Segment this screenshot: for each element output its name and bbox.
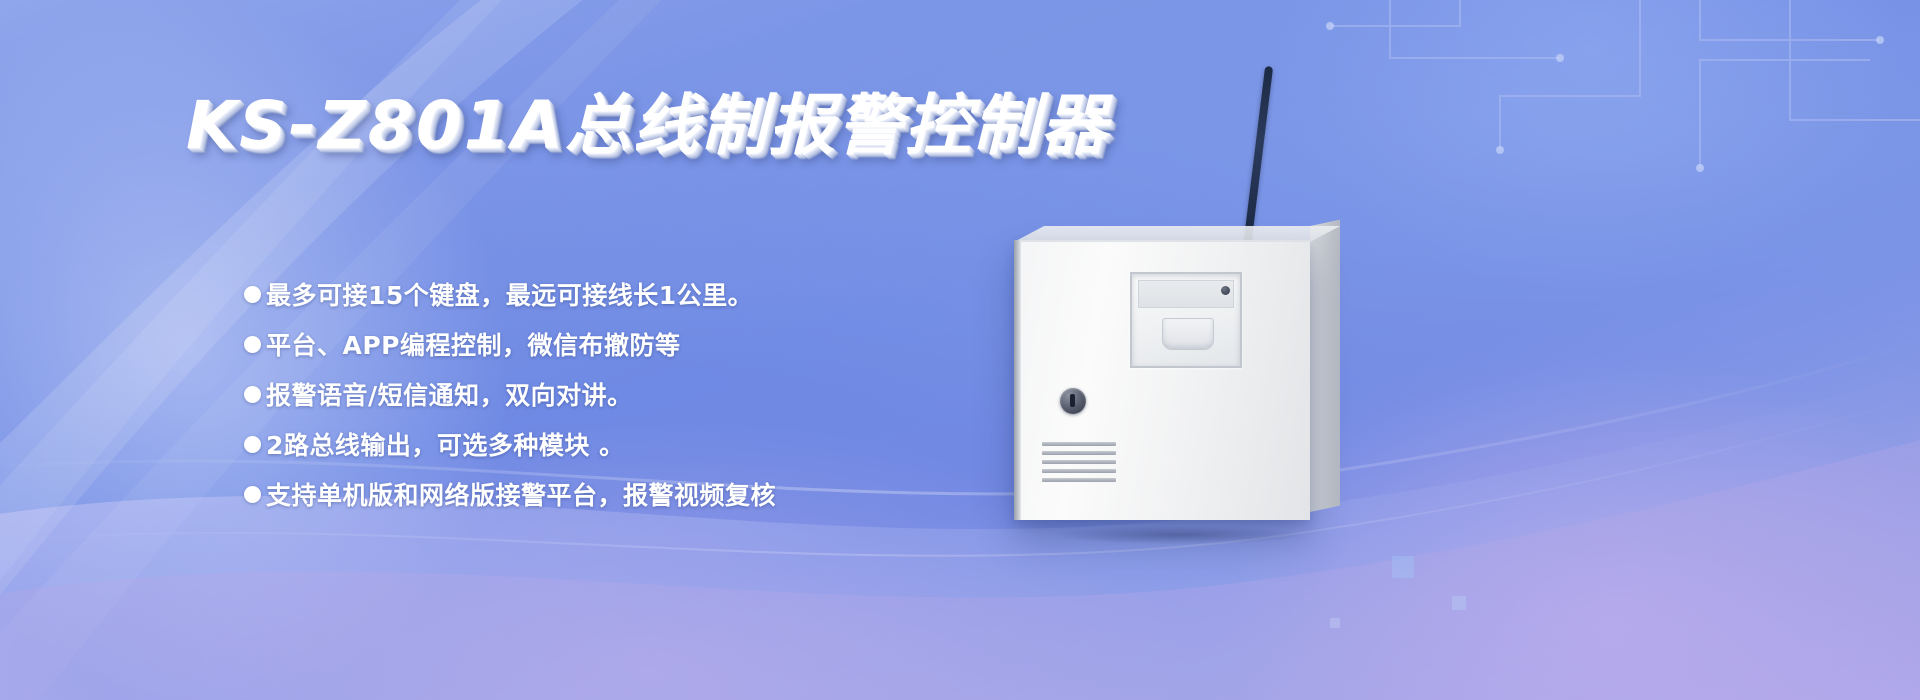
feature-text: 平台、APP编程控制，微信布撤防等	[266, 326, 681, 362]
list-item: 最多可接15个键盘，最远可接线长1公里。	[244, 276, 776, 312]
bullet-dot-icon	[244, 486, 261, 503]
keypad-window	[1130, 272, 1242, 368]
list-item: 支持单机版和网络版接警平台，报警视频复核	[244, 476, 776, 512]
vent-line	[1042, 478, 1116, 482]
panel-handle	[1162, 318, 1214, 350]
vent-line	[1042, 460, 1116, 464]
cabinet-top-edge	[1014, 226, 1340, 242]
product-promo-banner: KS-Z801A总线制报警控制器 最多可接15个键盘，最远可接线长1公里。 平台…	[0, 0, 1920, 700]
bullet-dot-icon	[244, 386, 261, 403]
feature-text: 2路总线输出，可选多种模块 。	[266, 426, 625, 462]
display-slot	[1138, 280, 1234, 308]
bullet-dot-icon	[244, 336, 261, 353]
ventilation-louvers	[1042, 442, 1116, 482]
vent-line	[1042, 451, 1116, 455]
list-item: 平台、APP编程控制，微信布撤防等	[244, 326, 776, 362]
list-item: 2路总线输出，可选多种模块 。	[244, 426, 776, 462]
product-shadow	[1004, 522, 1354, 548]
list-item: 报警语音/短信通知，双向对讲。	[244, 376, 776, 412]
cabinet-front	[1014, 240, 1310, 520]
title-block: KS-Z801A总线制报警控制器	[186, 72, 1109, 168]
page-title: KS-Z801A总线制报警控制器	[186, 72, 1109, 168]
feature-text: 支持单机版和网络版接警平台，报警视频复核	[266, 476, 776, 512]
bullet-dot-icon	[244, 436, 261, 453]
feature-list: 最多可接15个键盘，最远可接线长1公里。 平台、APP编程控制，微信布撤防等 报…	[244, 276, 776, 512]
circuit-lines	[1330, 0, 1920, 168]
vent-line	[1042, 469, 1116, 473]
status-led-icon	[1221, 286, 1230, 295]
feature-text: 最多可接15个键盘，最远可接线长1公里。	[266, 276, 753, 312]
vent-line	[1042, 442, 1116, 446]
bullet-dot-icon	[244, 286, 261, 303]
product-image	[1014, 240, 1344, 540]
lock-icon	[1060, 388, 1086, 414]
cabinet-door-edge	[1014, 240, 1021, 520]
cabinet-side-panel	[1310, 220, 1340, 512]
feature-text: 报警语音/短信通知，双向对讲。	[266, 376, 633, 412]
glow-squares	[1330, 556, 1466, 628]
